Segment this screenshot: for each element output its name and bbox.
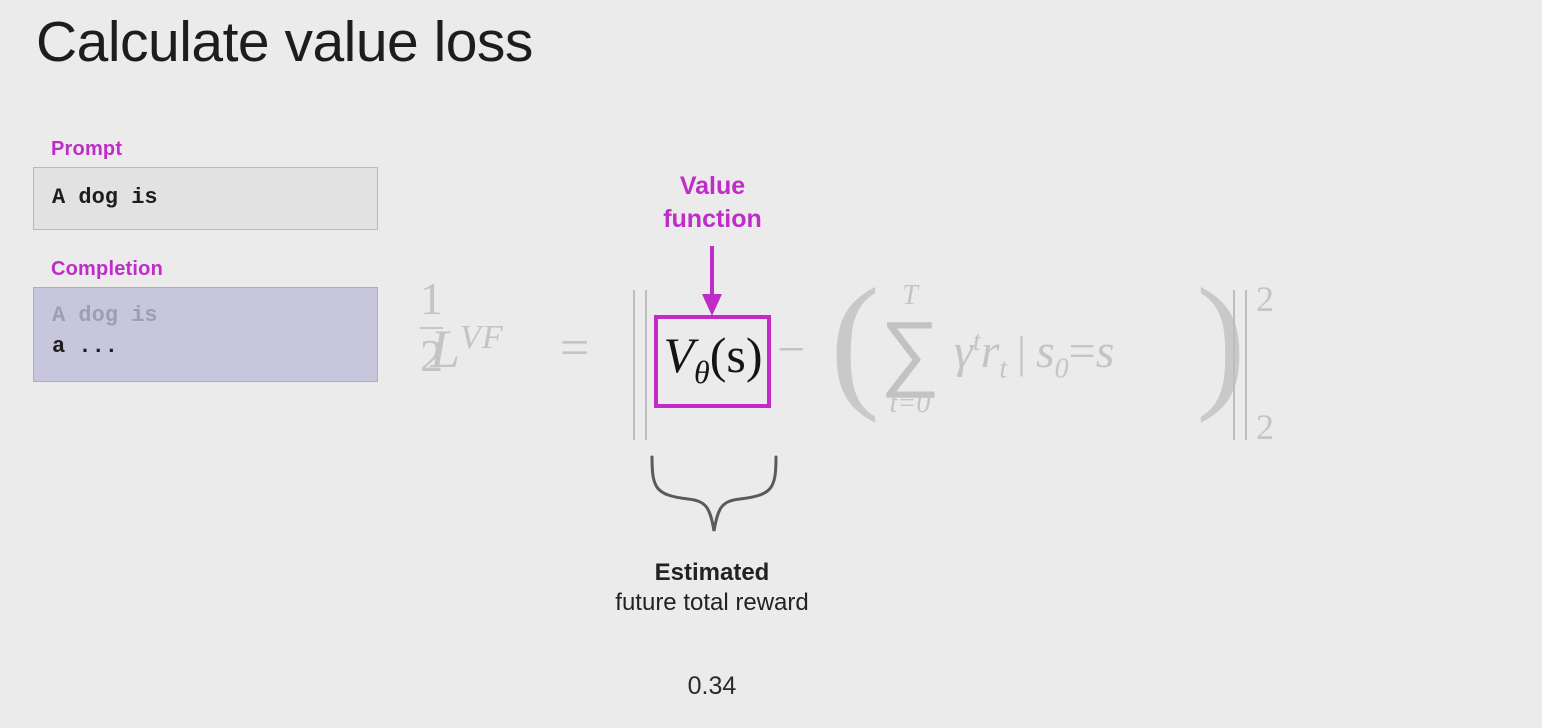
- norm-subscript: 2: [1256, 406, 1274, 448]
- value-function-annotation-line2: function: [620, 203, 805, 236]
- norm-close-bar-1: [1233, 290, 1235, 440]
- brace-caption-bold: Estimated: [462, 558, 962, 588]
- sum-lower-limit: t=0: [865, 390, 955, 418]
- prompt-label: Prompt: [51, 138, 378, 161]
- paren-close: ): [1196, 280, 1246, 403]
- completion-label: Completion: [51, 258, 378, 281]
- underbrace-icon: [648, 455, 780, 535]
- completion-generated-text: a ...: [52, 331, 359, 362]
- summation-operator: T ∑ t=0: [865, 282, 955, 418]
- brace-caption-regular: future total reward: [462, 588, 962, 618]
- completion-box[interactable]: A dog is a ...: [33, 287, 378, 381]
- prompt-box[interactable]: A dog is: [33, 167, 378, 230]
- estimated-value-readout: 0.34: [462, 672, 962, 701]
- brace-caption: Estimated future total reward: [462, 558, 962, 618]
- fraction-numerator: 1: [420, 276, 443, 323]
- value-function-annotation: Value function: [620, 170, 805, 235]
- value-loss-formula: LVF = 1 2 Vθ(s) − ( ) T ∑ t=0 γtrt|s0=s …: [420, 276, 1300, 451]
- value-function-term: Vθ(s): [658, 326, 768, 391]
- prompt-completion-panel: Prompt A dog is Completion A dog is a ..…: [33, 138, 378, 382]
- norm-superscript: 2: [1256, 278, 1274, 320]
- discounted-reward-expression: γtrt|s0=s: [954, 324, 1114, 386]
- minus-sign: −: [777, 320, 805, 378]
- page-title: Calculate value loss: [36, 8, 533, 76]
- sigma-icon: ∑: [865, 310, 955, 392]
- norm-open-bar-1: [633, 290, 635, 440]
- prompt-text: A dog is: [52, 185, 158, 210]
- value-function-annotation-line1: Value: [620, 170, 805, 203]
- completion-prompt-echo: A dog is: [52, 300, 359, 331]
- norm-open-bar-2: [645, 290, 647, 440]
- slide-canvas: Calculate value loss Prompt A dog is Com…: [0, 0, 1542, 728]
- norm-close-bar-2: [1245, 290, 1247, 440]
- loss-symbol: LVF: [430, 318, 504, 380]
- equals-sign: =: [560, 319, 589, 378]
